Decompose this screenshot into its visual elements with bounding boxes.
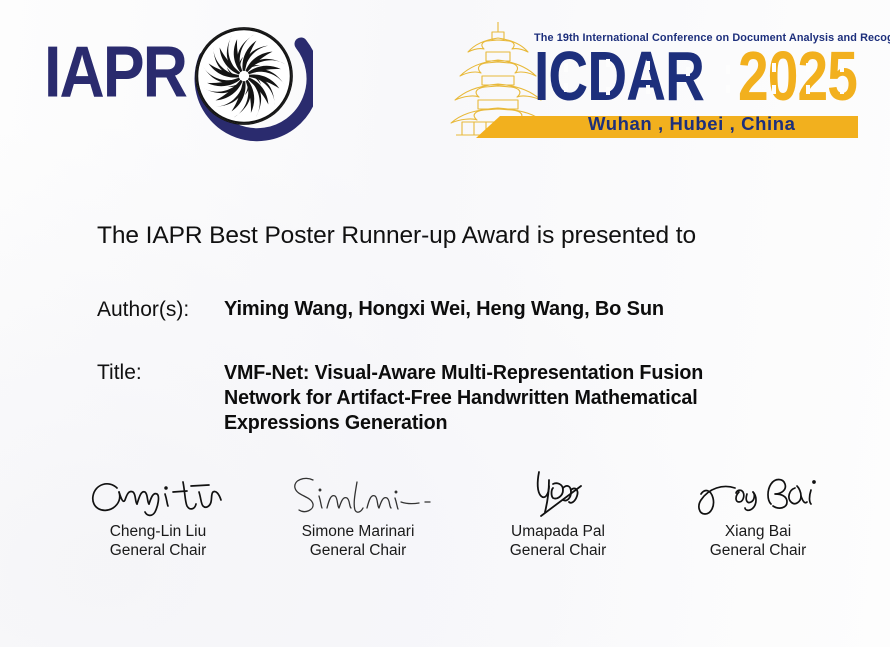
icdar-logo: The 19th International Conference on Doc… [448, 16, 858, 141]
signature-block: Simone Marinari General Chair [258, 468, 458, 560]
signature-block: Xiang Bai General Chair [658, 468, 858, 560]
signer-name: Umapada Pal [458, 522, 658, 541]
paper-title-line: Network for Artifact-Free Handwritten Ma… [224, 386, 761, 411]
icdar-location-text: Wuhan , Hubei , China [588, 113, 796, 135]
signature-block: Cheng-Lin Liu General Chair [58, 468, 258, 560]
award-headline: The IAPR Best Poster Runner-up Award is … [97, 222, 696, 250]
author-label: Author(s): [97, 298, 189, 322]
signer-name: Cheng-Lin Liu [58, 522, 258, 541]
signature-row: Cheng-Lin Liu General Chair [58, 468, 858, 560]
icdar-name-text: ICDAR [534, 43, 704, 110]
icdar-mainmark: ICDAR2025 [534, 45, 876, 107]
paper-title-line: Expressions Generation [224, 411, 761, 436]
signer-role: General Chair [58, 541, 258, 560]
signer-role: General Chair [258, 541, 458, 560]
signature-xiang-bai-icon [658, 468, 858, 522]
signer-name: Simone Marinari [258, 522, 458, 541]
signer-name: Xiang Bai [658, 522, 858, 541]
signer-role: General Chair [658, 541, 858, 560]
signature-simone-marinari-icon [258, 468, 458, 522]
iapr-logo: IAPR [44, 18, 314, 136]
award-certificate: IAPR [0, 0, 890, 647]
signer-role: General Chair [458, 541, 658, 560]
signature-block: Umapada Pal General Chair [458, 468, 658, 560]
iapr-wordmark-text: IAPR [44, 36, 186, 108]
signature-cheng-lin-liu-icon [58, 468, 258, 522]
paper-title: VMF-Net: Visual-Aware Multi-Representati… [224, 361, 761, 436]
paper-title-line: VMF-Net: Visual-Aware Multi-Representati… [224, 361, 761, 386]
iapr-pinwheel-icon [192, 24, 296, 128]
signature-umapada-pal-icon [458, 468, 658, 522]
icdar-year-text: 2025 [738, 43, 857, 110]
author-value: Yiming Wang, Hongxi Wei, Heng Wang, Bo S… [224, 298, 664, 321]
title-label: Title: [97, 361, 142, 385]
